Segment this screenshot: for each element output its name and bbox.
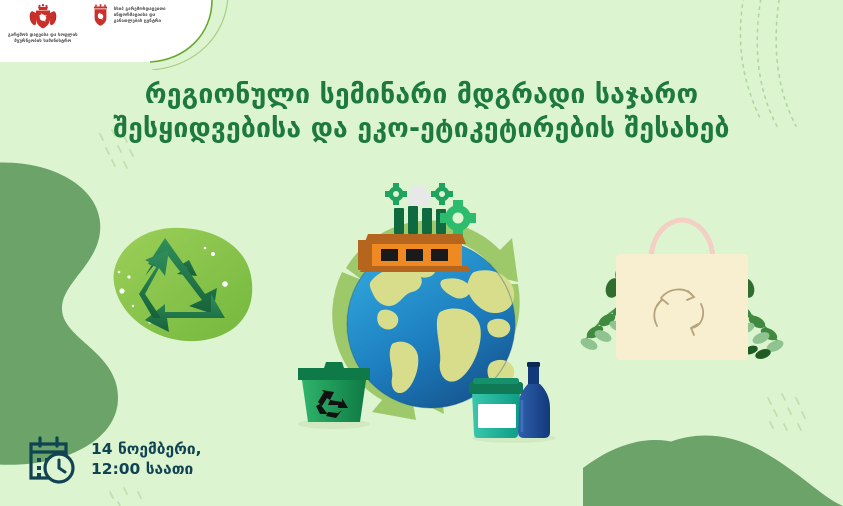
tote-handles: [651, 220, 713, 258]
factory-windows: [381, 249, 448, 261]
logo-eiec: სსიპ გარემოსდაცვითი ინფორმაციისა და განა…: [92, 4, 166, 28]
dash-cluster-bottom-left: [110, 488, 141, 506]
glass-bottle-icon: [518, 362, 550, 438]
logo-ministry-caption: გარემოს დაცვისა და სოფლის მეურნეობის სამ…: [8, 33, 78, 45]
calendar-clock-icon: [26, 434, 80, 484]
recycle-bin-icon: [298, 362, 370, 429]
title-line-1: რეგიონული სემინარი მდგრადი საჯარო: [60, 78, 783, 112]
header-band: გარემოს დაცვისა და სოფლის მეურნეობის სამ…: [0, 0, 250, 58]
poster-canvas: გარემოს დაცვისა და სოფლის მეურნეობის სამ…: [0, 0, 843, 506]
gear-icon-left: [385, 183, 407, 205]
gear-icon-right: [431, 183, 453, 205]
recycle-arrows-badge: [93, 222, 265, 362]
factory-icon: [358, 183, 476, 272]
logo-ministry: გარემოს დაცვისა და სოფლის მეურნეობის სამ…: [8, 4, 78, 45]
event-datetime: 14 ნოემბერი, 12:00 საათი: [26, 434, 202, 484]
event-datetime-text: 14 ნოემბერი, 12:00 საათი: [91, 439, 202, 480]
glass-jar-icon: [469, 378, 523, 438]
globe-recycling-cycle: [286, 176, 576, 466]
dash-cluster-right: [768, 394, 805, 430]
tote-body: [616, 254, 748, 360]
badge-blob: [114, 228, 253, 341]
logo-eiec-caption: სსიპ გარემოსდაცვითი ინფორმაციისა და განა…: [114, 7, 166, 26]
eco-tote-bag: [575, 214, 790, 364]
georgian-coat-of-arms-icon: [28, 4, 58, 30]
logo-row: გარემოს დაცვისა და სოფლის მეურნეობის სამ…: [8, 4, 166, 45]
poster-title: რეგიონული სემინარი მდგრადი საჯარო შესყიდ…: [0, 78, 843, 146]
title-line-2: შესყიდვებისა და ეკო-ეტიკეტირების შესახებ: [60, 112, 783, 146]
eiec-emblem-icon: [92, 4, 109, 28]
